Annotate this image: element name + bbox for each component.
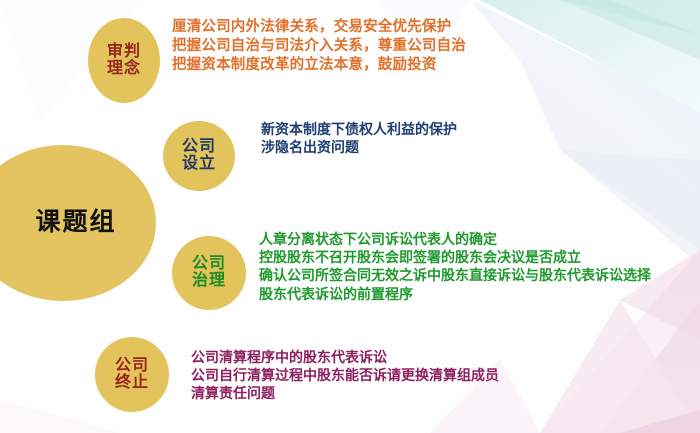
branch-item: 确认公司所签合同无效之诉中股东直接诉讼与股东代表诉讼选择 bbox=[259, 268, 651, 286]
branch-item: 控股股东不召开股东会即签署的股东会决议是否成立 bbox=[259, 250, 651, 268]
branch-item: 清算责任问题 bbox=[191, 386, 499, 404]
branch-bubble-label-line2: 治理 bbox=[192, 273, 226, 290]
branch-bubble-label-line2: 设立 bbox=[182, 156, 216, 173]
branch-item: 把握资本制度改革的立法本意，鼓励投资 bbox=[172, 56, 466, 75]
branch-item: 股东代表诉讼的前置程序 bbox=[259, 287, 651, 305]
branch-item: 涉隐名出资问题 bbox=[261, 140, 457, 158]
presentation-slide: 课题组 审判 理念 厘清公司内外法律关系，交易安全优先保护 把握公司自治与司法介… bbox=[0, 0, 700, 433]
branch-item: 厘清公司内外法律关系，交易安全优先保护 bbox=[172, 18, 466, 37]
branch-bubble-label-line2: 理念 bbox=[107, 61, 141, 78]
branch-bubble-label-line1: 审判 bbox=[107, 44, 141, 61]
branch-bubble-corporate-governance[interactable]: 公司 治理 bbox=[172, 236, 246, 310]
branch-bubble-label-line2: 终止 bbox=[115, 375, 149, 392]
branch-bubble-company-establishment[interactable]: 公司 设立 bbox=[163, 121, 235, 191]
branch-item: 公司清算程序中的股东代表诉讼 bbox=[191, 350, 499, 368]
branch-bubble-label-line1: 公司 bbox=[192, 256, 226, 273]
branch-item: 人章分离状态下公司诉讼代表人的确定 bbox=[259, 232, 651, 250]
branch-bubble-label-line1: 公司 bbox=[182, 139, 216, 156]
branch-items-company-establishment: 新资本制度下债权人利益的保护 涉隐名出资问题 bbox=[261, 122, 457, 158]
branch-items-trial-concept: 厘清公司内外法律关系，交易安全优先保护 把握公司自治与司法介入关系，尊重公司自治… bbox=[172, 18, 466, 75]
branch-item: 新资本制度下债权人利益的保护 bbox=[261, 122, 457, 140]
branch-item: 把握公司自治与司法介入关系，尊重公司自治 bbox=[172, 37, 466, 56]
branch-item: 公司自行清算过程中股东能否诉请更换清算组成员 bbox=[191, 368, 499, 386]
branch-items-corporate-governance: 人章分离状态下公司诉讼代表人的确定 控股股东不召开股东会即签署的股东会决议是否成… bbox=[259, 232, 651, 305]
center-node-label: 课题组 bbox=[35, 210, 116, 236]
branch-bubble-label-line1: 公司 bbox=[115, 358, 149, 375]
branch-bubble-company-termination[interactable]: 公司 终止 bbox=[95, 337, 169, 412]
branch-bubble-trial-concept[interactable]: 审判 理念 bbox=[88, 18, 160, 103]
branch-items-company-termination: 公司清算程序中的股东代表诉讼 公司自行清算过程中股东能否诉请更换清算组成员 清算… bbox=[191, 350, 499, 405]
